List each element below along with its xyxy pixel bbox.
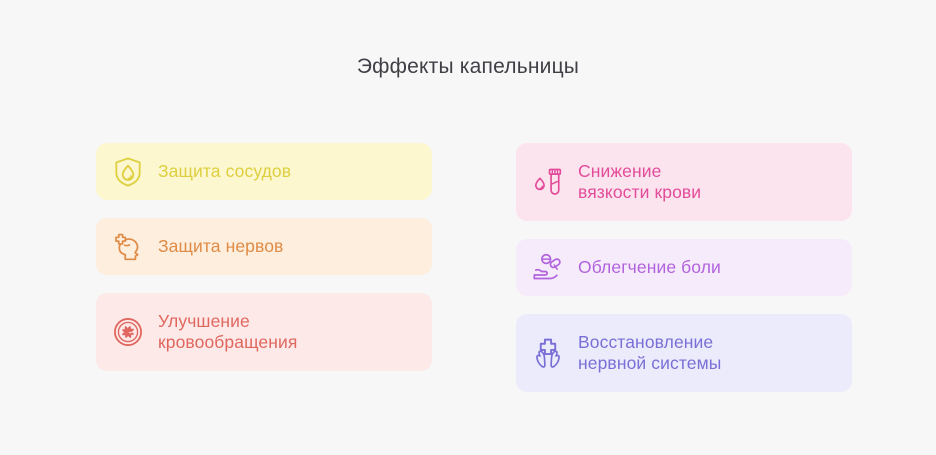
card-label: Облегчение боли xyxy=(578,257,721,278)
card-label: Восстановление нервной системы xyxy=(578,332,721,375)
left-column: Защита сосудов Защита нервов xyxy=(96,143,432,371)
right-column: Снижение вязкости крови Облегчение боли xyxy=(516,143,852,392)
card-label: Улучшение кровообращения xyxy=(158,311,297,354)
shield-droplet-icon xyxy=(110,154,146,190)
test-tube-droplet-icon xyxy=(530,164,566,200)
card-nervous-system-recovery[interactable]: Восстановление нервной системы xyxy=(516,314,852,392)
circulation-swirl-icon xyxy=(110,314,146,350)
hands-cross-icon xyxy=(530,335,566,371)
infographic-root: Эффекты капельницы Защита сосудов xyxy=(0,0,936,455)
card-blood-circulation[interactable]: Улучшение кровообращения xyxy=(96,293,432,371)
card-nerve-protection[interactable]: Защита нервов xyxy=(96,218,432,275)
cards-grid: Защита сосудов Защита нервов xyxy=(96,143,852,392)
hand-pills-icon xyxy=(530,250,566,286)
page-title: Эффекты капельницы xyxy=(0,55,936,79)
card-vessel-protection[interactable]: Защита сосудов xyxy=(96,143,432,200)
head-cross-icon xyxy=(110,229,146,265)
card-label: Защита нервов xyxy=(158,236,283,257)
card-label: Защита сосудов xyxy=(158,161,291,182)
card-blood-viscosity[interactable]: Снижение вязкости крови xyxy=(516,143,852,221)
card-pain-relief[interactable]: Облегчение боли xyxy=(516,239,852,296)
card-label: Снижение вязкости крови xyxy=(578,161,701,204)
